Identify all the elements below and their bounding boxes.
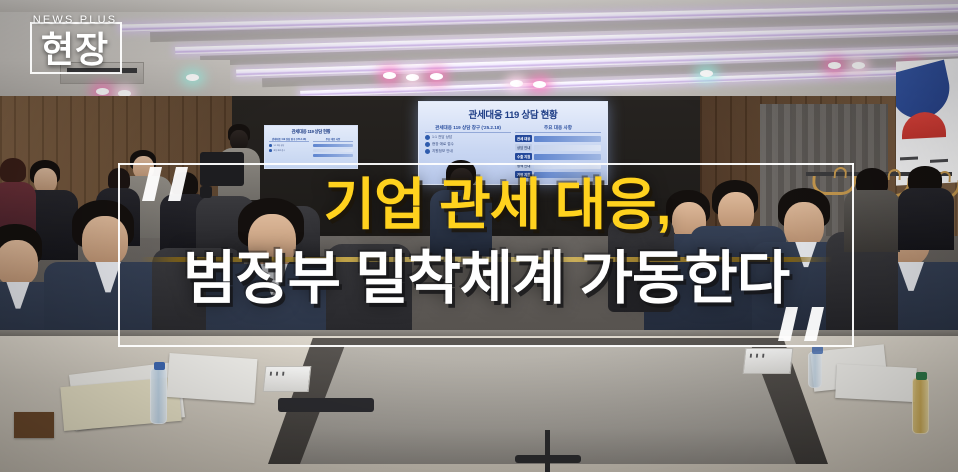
headline-text-wrap: 기업 관세 대응, 범정부 밀착체계 가동한다 [118, 169, 854, 317]
slide-left-item: 1:1 전담 상담 [425, 135, 511, 140]
slide-bar [534, 136, 601, 142]
microphone-stand [545, 430, 550, 472]
slide-left-item-label: 현장 애로 접수 [274, 149, 286, 152]
water-bottle [150, 368, 167, 424]
slide-left-item-label: 현장 애로 접수 [432, 142, 454, 147]
channel-logo: NEWS PLUS 현장 [20, 10, 130, 80]
slide-title: 관세대응 119 상담 현황 [419, 107, 607, 121]
water-bottle [808, 352, 822, 388]
ceiling-spotlight [383, 72, 396, 79]
logo-kicker: NEWS PLUS [20, 14, 130, 26]
slide-left-item-label: 지원정보 안내 [432, 149, 453, 154]
slide-bar [313, 144, 353, 147]
ceiling-spotlight [510, 80, 523, 87]
bottle-cap [916, 372, 927, 380]
slide-left-item: 지원정보 안내 [425, 149, 511, 154]
flag-trigram [930, 159, 948, 163]
slide-body-mini: 관세대응 119 상담 창구 ('25.2.18) 1:1 전담 상담 현장 애… [265, 135, 357, 159]
slide-badge: 관세 대응 [515, 135, 532, 142]
small-box [14, 412, 54, 438]
ceiling [0, 0, 958, 104]
bullet-icon [425, 135, 430, 140]
headline-band: 기업 관세 대응, 범정부 밀착체계 가동한다 [118, 163, 854, 347]
slide-left-header-mini: 관세대응 119 상담 창구 ('25.2.18) [269, 137, 309, 142]
broadcast-screenshot: 관세대응 119 상담 현황 관세대응 119 상담 창구 ('25.2.18)… [0, 0, 958, 472]
name-plate-text: ▮ ▮ ▮ [749, 353, 788, 359]
slide-right-row: 관세 대응 [515, 135, 601, 142]
slide-left-item-mini: 1:1 전담 상담 [269, 144, 309, 147]
ceiling-spotlight [96, 88, 109, 95]
document [167, 353, 258, 403]
slide-left-item-label: 1:1 전담 상담 [432, 135, 452, 140]
bullet-icon [425, 142, 430, 147]
slide-left-column-mini: 관세대응 119 상담 창구 ('25.2.18) 1:1 전담 상담 현장 애… [269, 137, 309, 157]
beverage-bottle [912, 378, 929, 434]
ceiling-spotlight [828, 62, 841, 69]
slide-right-row-mini [313, 154, 353, 157]
slide-left-item: 현장 애로 접수 [425, 142, 511, 147]
headline-line-2: 범정부 밀착체계 가동한다 [118, 241, 854, 317]
headline-line-1: 기업 관세 대응, [118, 169, 854, 241]
ceiling-spotlight [186, 74, 199, 81]
name-plate: ▮ ▮ ▮ [263, 366, 312, 392]
flag-trigram [900, 156, 918, 160]
bottle-cap [154, 362, 165, 370]
bullet-icon [269, 149, 272, 152]
slide-bar [313, 154, 353, 157]
slide-right-row: 상담 안내 [515, 144, 601, 151]
slide-right-row-mini [313, 149, 353, 152]
slide-right-header-mini: 주요 대응 사항 [313, 137, 353, 142]
ceiling-spotlight [533, 81, 546, 88]
microphone-base [515, 455, 581, 463]
slide-right-column-mini: 주요 대응 사항 [313, 137, 353, 157]
slide-bar [313, 149, 353, 152]
document [835, 364, 917, 402]
band-border-top [118, 163, 854, 165]
laptop [278, 398, 374, 412]
slide-badge: 상담 안내 [515, 144, 532, 151]
band-border-bottom [118, 345, 854, 347]
slide-bar [534, 154, 601, 160]
ceiling-spotlight [700, 70, 713, 77]
slide-left-item-mini: 현장 애로 접수 [269, 149, 309, 152]
name-plate-text: ▮ ▮ ▮ [269, 371, 306, 377]
ceiling-spotlight [430, 73, 443, 80]
slide-right-row: 수출 지원 [515, 153, 601, 160]
slide-right-header: 주요 대응 사항 [515, 125, 601, 133]
name-plate: ▮ ▮ ▮ [743, 348, 794, 374]
slide-left-item-label: 1:1 전담 상담 [274, 144, 285, 147]
bullet-icon [269, 144, 272, 147]
slide-bar [534, 145, 601, 151]
ceiling-spotlight [406, 74, 419, 81]
bullet-icon [425, 149, 430, 154]
logo-program-name: 현장 [20, 28, 130, 72]
ceiling-spotlight [852, 62, 865, 69]
slide-badge: 수출 지원 [515, 153, 532, 160]
bottle-cap [812, 346, 823, 354]
slide-left-header: 관세대응 119 상담 창구 ('25.2.18) [425, 125, 511, 133]
slide-right-row-mini [313, 144, 353, 147]
